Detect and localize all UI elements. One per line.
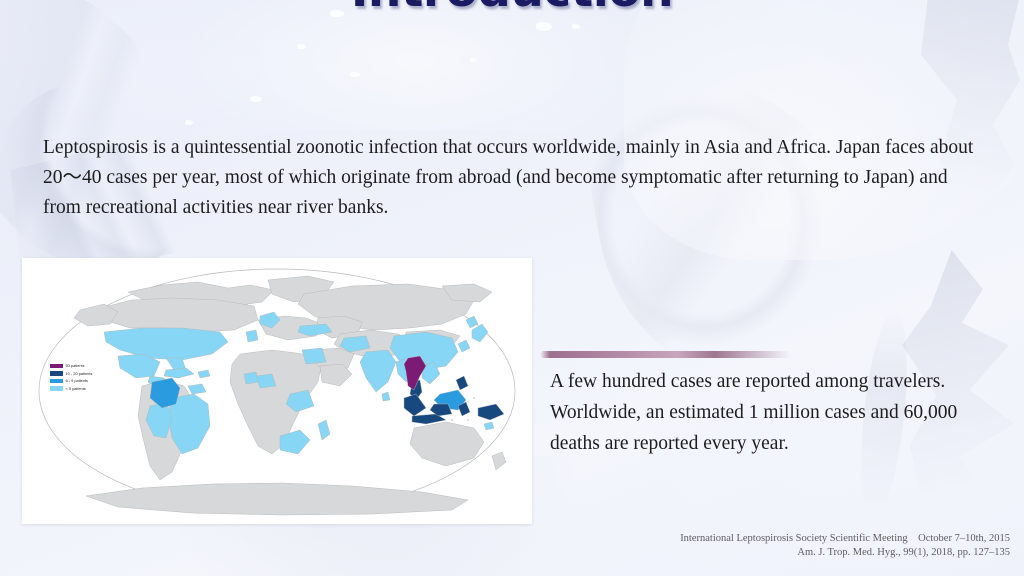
footer-citation: International Leptospirosis Society Scie… xyxy=(680,532,1010,560)
legend-item: < 5 patients xyxy=(50,385,136,393)
page-title: Introduction xyxy=(262,0,762,18)
legend-item: 50 patients xyxy=(50,362,136,370)
legend-swatch-tier-10-20 xyxy=(50,371,63,375)
map-legend: 50 patients 10 - 20 patients 6 - 9 patie… xyxy=(50,362,136,392)
legend-label-tier-under-5: < 5 patients xyxy=(66,386,86,391)
legend-item: 6 - 9 patients xyxy=(50,377,136,385)
statistics-paragraph: A few hundred cases are reported among t… xyxy=(550,366,990,459)
legend-item: 10 - 20 patients xyxy=(50,370,136,378)
intro-paragraph: Leptospirosis is a quintessential zoonot… xyxy=(43,133,981,223)
legend-swatch-tier-50 xyxy=(50,364,63,368)
decorative-rule xyxy=(540,351,790,358)
world-map-figure: 50 patients 10 - 20 patients 6 - 9 patie… xyxy=(22,258,532,524)
footer-line-2: Am. J. Trop. Med. Hyg., 99(1), 2018, pp.… xyxy=(680,546,1010,560)
footer-line-1: International Leptospirosis Society Scie… xyxy=(680,532,1010,546)
legend-swatch-tier-under-5 xyxy=(50,386,63,390)
legend-label-tier-10-20: 10 - 20 patients xyxy=(66,371,93,376)
legend-label-tier-6-9: 6 - 9 patients xyxy=(66,378,89,383)
slide-canvas: Introduction Leptospirosis is a quintess… xyxy=(0,0,1024,576)
legend-label-tier-50: 50 patients xyxy=(66,363,85,368)
legend-swatch-tier-6-9 xyxy=(50,379,63,383)
